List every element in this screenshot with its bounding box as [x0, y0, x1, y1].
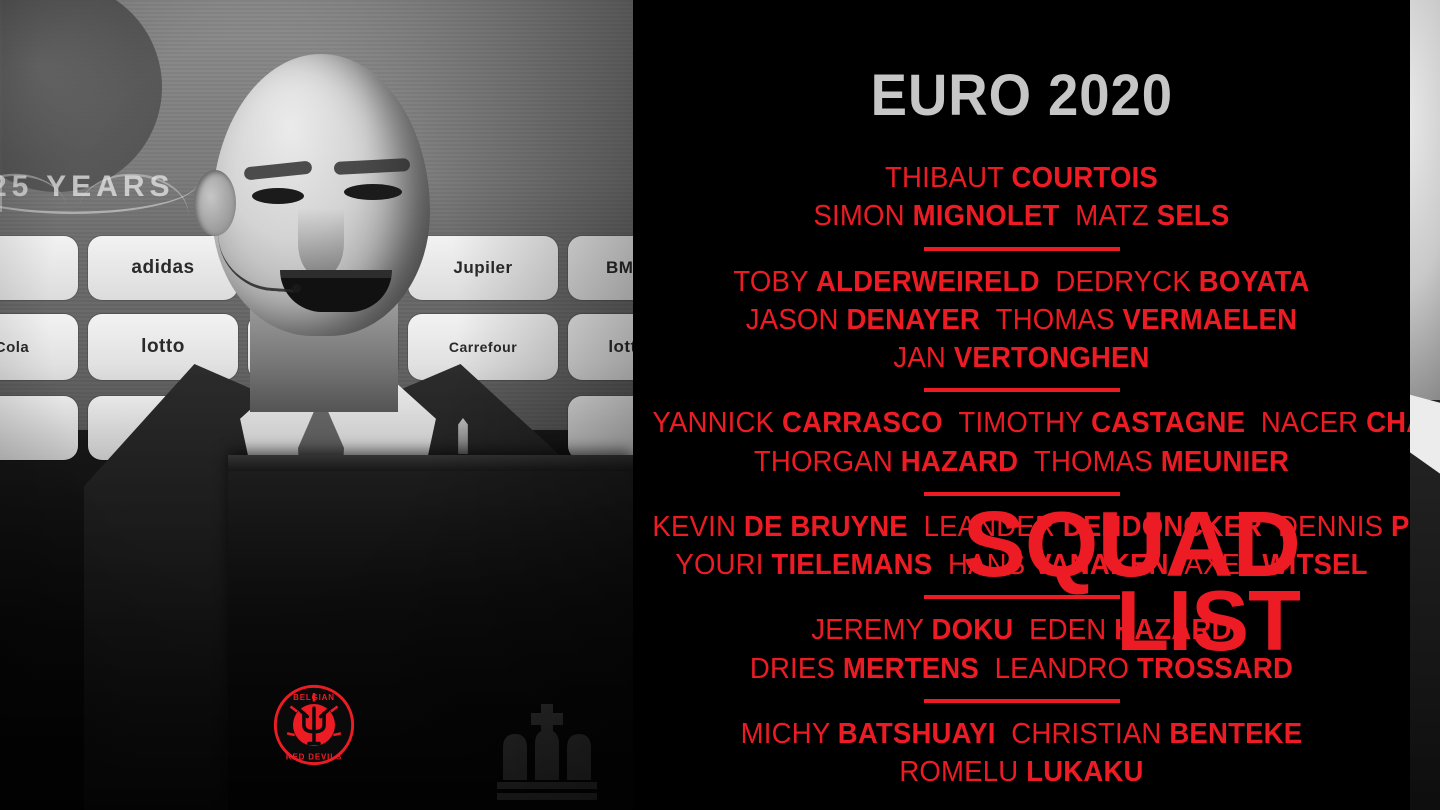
player-first-name: THOMAS — [996, 304, 1123, 336]
player-first-name: YANNICK — [652, 407, 782, 439]
player-name: THORGAN HAZARD — [754, 446, 1018, 478]
eye-left — [252, 188, 304, 204]
player-last-name: MEUNIER — [1161, 446, 1289, 478]
player-first-name: NACER — [1261, 407, 1366, 439]
badge-bottom-text: RED DEVILS — [286, 752, 342, 761]
player-first-name: JAN — [893, 342, 953, 374]
player-last-name: VERMAELEN — [1123, 304, 1298, 336]
player-name: YANNICK CARRASCO — [652, 407, 942, 439]
headset-microphone-icon — [214, 229, 302, 293]
player-name: THOMAS VERMAELEN — [996, 304, 1298, 336]
player-line: SIMON MIGNOLET MATZ SELS — [652, 197, 1390, 235]
player-last-name: ALDERWEIRELD — [816, 266, 1040, 298]
player-line: YANNICK CARRASCO TIMOTHY CASTAGNE NACER … — [652, 404, 1390, 442]
badge-top-text: BELGIAN — [293, 693, 335, 702]
player-first-name: KEVIN — [652, 511, 743, 543]
player-line: ROMELU LUKAKU — [652, 753, 1390, 791]
player-first-name: JASON — [746, 304, 847, 336]
player-last-name: MIGNOLET — [913, 200, 1060, 232]
player-name: JAN VERTONGHEN — [893, 342, 1149, 374]
player-last-name: BOYATA — [1199, 266, 1310, 298]
player-last-name: COURTOIS — [1012, 162, 1158, 194]
player-last-name: CASTAGNE — [1091, 407, 1245, 439]
sponsor-board: Cola — [0, 314, 78, 380]
player-last-name: CARRASCO — [782, 407, 943, 439]
player-first-name: MICHY — [741, 718, 838, 750]
player-name: JASON DENAYER — [746, 304, 980, 336]
player-first-name: CHRISTIAN — [1011, 718, 1169, 750]
ear — [194, 170, 236, 236]
player-name: MICHY BATSHUAYI — [741, 718, 996, 750]
player-group-wing-backs: YANNICK CARRASCO TIMOTHY CASTAGNE NACER … — [633, 404, 1410, 481]
player-name: TOBY ALDERWEIRELD — [733, 266, 1039, 298]
player-line: TOBY ALDERWEIRELD DEDRYCK BOYATA — [652, 263, 1390, 301]
group-divider — [924, 699, 1120, 703]
player-name: TIMOTHY CASTAGNE — [958, 407, 1245, 439]
sponsor-board — [0, 236, 78, 300]
player-last-name: SELS — [1157, 200, 1230, 232]
player-first-name: THIBAUT — [885, 162, 1012, 194]
player-name: THOMAS MEUNIER — [1034, 446, 1289, 478]
player-last-name: LUKAKU — [1026, 756, 1143, 788]
player-name: THIBAUT COURTOIS — [885, 162, 1158, 194]
squad-list-graphic: 25 YEARS adidas ING Jupiler BMW Cola lot… — [0, 0, 1440, 810]
headline-line-1: SQUAD — [872, 505, 1300, 585]
player-last-name: VERTONGHEN — [954, 342, 1150, 374]
squad-list-headline: SQUAD LIST — [880, 505, 1300, 658]
player-first-name: THORGAN — [754, 446, 901, 478]
player-first-name: MATZ — [1075, 200, 1157, 232]
player-name: CHRISTIAN BENTEKE — [1011, 718, 1302, 750]
eye-right — [344, 184, 402, 200]
player-last-name: DENAYER — [846, 304, 980, 336]
player-first-name: TIMOTHY — [958, 407, 1091, 439]
player-first-name: TOBY — [733, 266, 816, 298]
player-last-name: BENTEKE — [1169, 718, 1302, 750]
player-name: MATZ SELS — [1075, 200, 1229, 232]
player-first-name: YOURI — [675, 549, 771, 581]
player-groups: THIBAUT COURTOISSIMON MIGNOLET MATZ SELS… — [633, 159, 1410, 791]
player-first-name: ROMELU — [899, 756, 1026, 788]
player-name: ROMELU LUKAKU — [899, 756, 1143, 788]
tournament-title: EURO 2020 — [870, 62, 1172, 129]
player-name: KEVIN DE BRUYNE — [652, 511, 907, 543]
nose — [298, 208, 344, 278]
squad-list-panel: EURO 2020 THIBAUT COURTOISSIMON MIGNOLET… — [633, 0, 1410, 810]
group-divider — [924, 247, 1120, 251]
player-first-name: SIMON — [813, 200, 912, 232]
player-group-goalkeepers: THIBAUT COURTOISSIMON MIGNOLET MATZ SELS — [633, 159, 1410, 236]
player-group-forwards: MICHY BATSHUAYI CHRISTIAN BENTEKEROMELU … — [633, 715, 1410, 792]
headline-line-2: LIST — [872, 585, 1300, 658]
player-line: JAN VERTONGHEN — [652, 339, 1390, 377]
player-name: DEDRYCK BOYATA — [1055, 266, 1309, 298]
player-last-name: HAZARD — [901, 446, 1018, 478]
player-group-defenders: TOBY ALDERWEIRELD DEDRYCK BOYATAJASON DE… — [633, 263, 1410, 378]
player-line: JASON DENAYER THOMAS VERMAELEN — [652, 301, 1390, 339]
microphone-capsule — [292, 284, 301, 293]
player-line: THORGAN HAZARD THOMAS MEUNIER — [652, 443, 1390, 481]
player-first-name: DEDRYCK — [1055, 266, 1198, 298]
group-divider — [924, 388, 1120, 392]
player-first-name: DRIES — [750, 653, 843, 685]
right-edge-photo-sliver — [1410, 0, 1440, 810]
belgian-red-devils-badge: BELGIAN RED DEVILS — [272, 683, 356, 767]
player-last-name: BATSHUAYI — [838, 718, 996, 750]
sponsor-board — [0, 396, 78, 460]
crown-icon — [487, 704, 607, 800]
player-line: MICHY BATSHUAYI CHRISTIAN BENTEKE — [652, 715, 1390, 753]
player-name: SIMON MIGNOLET — [813, 200, 1059, 232]
player-line: THIBAUT COURTOIS — [652, 159, 1390, 197]
player-first-name: THOMAS — [1034, 446, 1161, 478]
